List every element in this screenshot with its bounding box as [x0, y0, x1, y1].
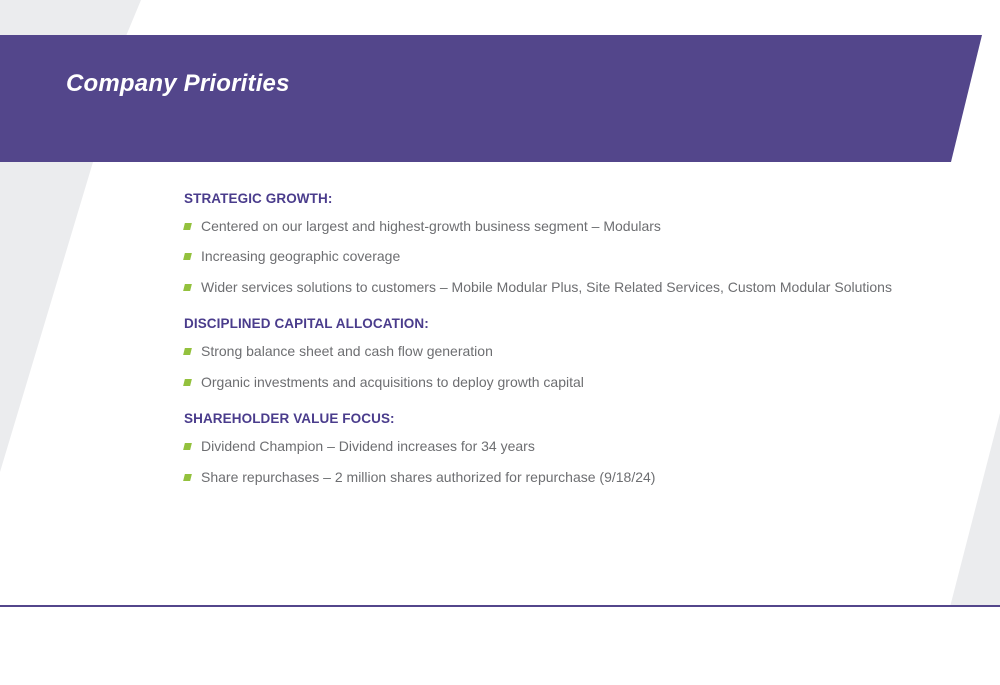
bullet-marker-icon	[183, 284, 192, 291]
list-item-label: Share repurchases – 2 million shares aut…	[201, 469, 655, 485]
bullet-list: Dividend Champion – Dividend increases f…	[184, 438, 944, 486]
list-item: Centered on our largest and highest-grow…	[184, 218, 944, 236]
list-item: Strong balance sheet and cash flow gener…	[184, 343, 944, 361]
bullet-marker-icon	[183, 474, 192, 481]
list-item: Increasing geographic coverage	[184, 248, 944, 266]
bullet-marker-icon	[183, 253, 192, 260]
decorative-grey-band-top	[0, 0, 160, 36]
list-item: Dividend Champion – Dividend increases f…	[184, 438, 944, 456]
content-body: STRATEGIC GROWTH: Centered on our larges…	[184, 192, 944, 486]
list-item: Share repurchases – 2 million shares aut…	[184, 469, 944, 487]
section-strategic-growth: STRATEGIC GROWTH: Centered on our larges…	[184, 192, 944, 296]
decorative-grey-wedge-right	[940, 413, 1000, 607]
bullet-marker-icon	[183, 443, 192, 450]
bullet-marker-icon	[183, 348, 192, 355]
section-heading: SHAREHOLDER VALUE FOCUS:	[184, 412, 944, 427]
bullet-marker-icon	[183, 223, 192, 230]
header-banner	[0, 35, 982, 162]
bullet-marker-icon	[183, 379, 192, 386]
list-item: Organic investments and acquisitions to …	[184, 374, 944, 392]
bullet-list: Strong balance sheet and cash flow gener…	[184, 343, 944, 391]
list-item-label: Increasing geographic coverage	[201, 248, 400, 264]
section-heading: STRATEGIC GROWTH:	[184, 192, 944, 207]
page-title: Company Priorities	[66, 70, 290, 98]
list-item-label: Strong balance sheet and cash flow gener…	[201, 343, 493, 359]
section-disciplined-capital-allocation: DISCIPLINED CAPITAL ALLOCATION: Strong b…	[184, 317, 944, 391]
list-item-label: Centered on our largest and highest-grow…	[201, 218, 661, 234]
section-heading: DISCIPLINED CAPITAL ALLOCATION:	[184, 317, 944, 332]
section-shareholder-value-focus: SHAREHOLDER VALUE FOCUS: Dividend Champi…	[184, 412, 944, 486]
slide-canvas: Company Priorities STRATEGIC GROWTH: Cen…	[0, 0, 1000, 685]
list-item-label: Wider services solutions to customers – …	[201, 279, 892, 295]
list-item-label: Dividend Champion – Dividend increases f…	[201, 438, 535, 454]
list-item-label: Organic investments and acquisitions to …	[201, 374, 584, 390]
list-item: Wider services solutions to customers – …	[184, 279, 944, 297]
footer: McGRATH™ PAGE 9	[0, 607, 1000, 685]
decorative-grey-wedge-left	[0, 162, 120, 472]
bullet-list: Centered on our largest and highest-grow…	[184, 218, 944, 297]
